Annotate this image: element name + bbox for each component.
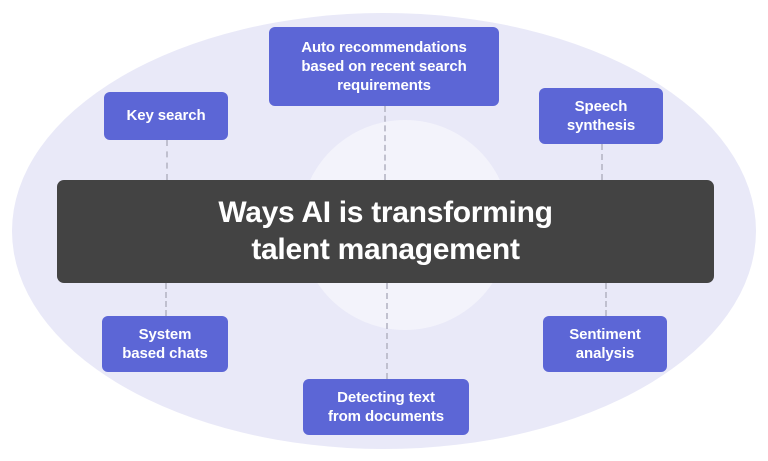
node-sentiment-analysis[interactable]: Sentiment analysis [543,316,667,372]
node-speech-synthesis[interactable]: Speech synthesis [539,88,663,144]
node-detecting-text-from-documents[interactable]: Detecting text from documents [303,379,469,435]
connector-auto-recommendations [384,106,386,180]
node-system-based-chats[interactable]: System based chats [102,316,228,372]
node-key-search[interactable]: Key search [104,92,228,140]
infographic-canvas: Key search Auto recommendations based on… [0,0,768,461]
connector-key-search [166,140,168,180]
center-title-bar: Ways AI is transforming talent managemen… [57,180,714,283]
center-title-text: Ways AI is transforming talent managemen… [218,195,552,268]
node-auto-recommendations[interactable]: Auto recommendations based on recent sea… [269,27,499,106]
connector-sentiment-analysis [605,283,607,316]
connector-system-based-chats [165,283,167,316]
connector-detecting-text [386,283,388,379]
connector-speech-synthesis [601,144,603,180]
